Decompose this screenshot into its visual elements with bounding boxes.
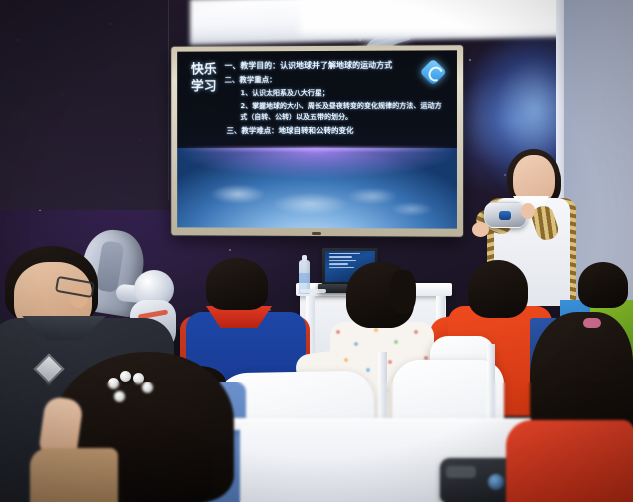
girl-red-coat-body (506, 420, 633, 502)
pearl-hair-clip-bead (133, 373, 144, 384)
ceiling-light-glow (300, 0, 600, 34)
slide-line-5: 式（自转、公转）以及五带的划分。 (240, 112, 446, 122)
pearl-hair-clip-bead (120, 371, 131, 382)
silver-handheld-device[interactable] (484, 202, 527, 228)
pearl-hair-clip-bead (114, 391, 125, 402)
lesson-slide: 快乐学习 一、教学目的：认识地球并了解地球的运动方式 二、教学重点： 1、认识太… (177, 50, 457, 152)
teacher-right-hand (521, 203, 535, 219)
woman-foreground-coat-sleeve (30, 448, 118, 502)
classroom-photo-scene: 快乐学习 一、教学目的：认识地球并了解地球的运动方式 二、教学重点： 1、认识太… (0, 0, 633, 502)
slide-line-6: 三、教学难点：地球自转和公转的变化 (227, 125, 447, 136)
teacher-left-hand (472, 222, 489, 237)
spiral-diamond-logo (424, 62, 443, 81)
pearl-hair-clip-bead (108, 378, 119, 389)
tv-ir-sensor (312, 232, 321, 235)
slide-vertical-motto: 快乐学习 (191, 61, 217, 95)
woman-foreground-ponytail (110, 400, 214, 502)
girl-hair-tie (583, 318, 601, 328)
child-red-jacket-hair (468, 260, 528, 318)
boy-uniform-hair (206, 258, 268, 310)
slide-line-1: 一、教学目的：认识地球并了解地球的运动方式 (225, 59, 447, 71)
pearl-hair-clip-bead (142, 382, 153, 393)
tv-display-area: 快乐学习 一、教学目的：认识地球并了解地球的运动方式 二、教学重点： 1、认识太… (177, 50, 457, 228)
mural-left-dark-panel (0, 0, 170, 210)
wall-seam (168, 0, 169, 200)
slide-line-4: 2、掌握地球的大小、周长及昼夜转变的变化规律的方法、运动方 (240, 101, 446, 111)
desk-paper (300, 289, 326, 293)
slide-text-body: 一、教学目的：认识地球并了解地球的运动方式 二、教学重点： 1、认识太阳系及八大… (225, 59, 447, 136)
slide-line-3: 1、认识太阳系及八大行星； (240, 88, 446, 99)
earth-from-space-image (177, 148, 457, 228)
slide-line-2: 二、教学重点： (225, 74, 447, 86)
boy-green-jacket-hair (578, 262, 628, 308)
flat-screen-tv[interactable]: 快乐学习 一、教学目的：认识地球并了解地球的运动方式 二、教学重点： 1、认识太… (171, 45, 463, 237)
girl-patterned-shirt-hair (346, 262, 414, 328)
